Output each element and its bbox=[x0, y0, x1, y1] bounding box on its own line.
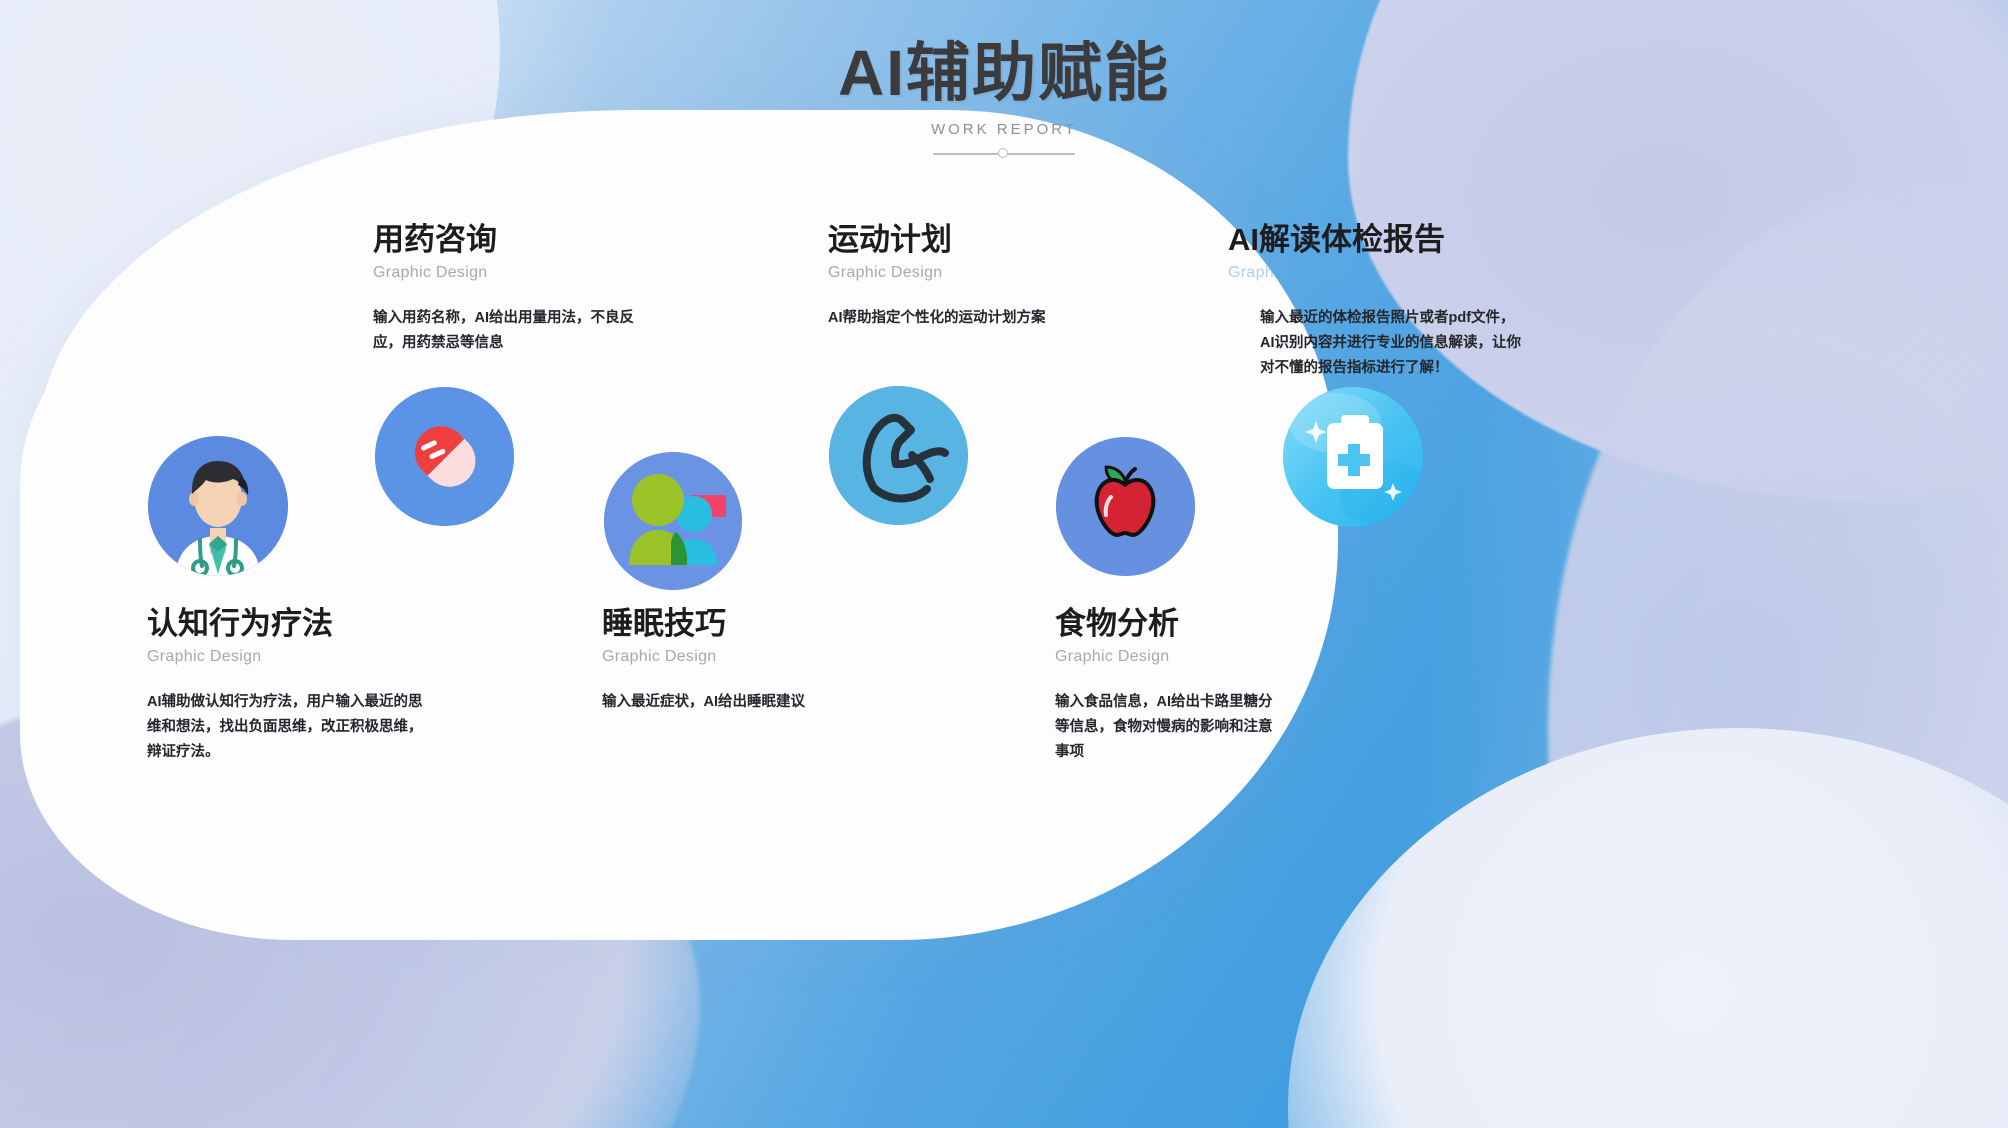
divider-dot-icon bbox=[998, 148, 1008, 158]
feature-ai-medical-report[interactable]: AI解读体检报告 Graphic Design 输入最近的体检报告照片或者pdf… bbox=[1228, 222, 1528, 380]
apple-icon[interactable] bbox=[1056, 437, 1195, 576]
feature-subtitle: Graphic Design bbox=[373, 264, 653, 282]
feature-description: 输入最近症状，AI给出睡眠建议 bbox=[602, 690, 852, 715]
page-title: AI辅助赋能 bbox=[0, 40, 2008, 107]
feature-sleep-techniques[interactable]: 睡眠技巧 Graphic Design 输入最近症状，AI给出睡眠建议 bbox=[602, 606, 852, 715]
feature-description: AI辅助做认知行为疗法，用户输入最近的思维和想法，找出负面思维，改正积极思维，辩… bbox=[147, 690, 425, 765]
feature-description: 输入最近的体检报告照片或者pdf文件，AI识别内容并进行专业的信息解读，让你对不… bbox=[1260, 306, 1528, 381]
feature-title: 食物分析 bbox=[1055, 606, 1285, 642]
feature-subtitle: Graphic Design bbox=[602, 648, 852, 666]
feature-medication-consultation[interactable]: 用药咨询 Graphic Design 输入用药名称，AI给出用量用法，不良反应… bbox=[373, 222, 653, 356]
flexed-bicep-icon[interactable] bbox=[829, 386, 968, 525]
header-divider bbox=[933, 147, 1075, 161]
feature-title: 用药咨询 bbox=[373, 222, 653, 258]
feature-title: AI解读体检报告 bbox=[1228, 222, 1528, 258]
feature-description: 输入用药名称，AI给出用量用法，不良反应，用药禁忌等信息 bbox=[373, 306, 653, 356]
feature-exercise-plan[interactable]: 运动计划 Graphic Design AI帮助指定个性化的运动计划方案 bbox=[828, 222, 1094, 331]
feature-cognitive-behavioral-therapy[interactable]: 认知行为疗法 Graphic Design AI辅助做认知行为疗法，用户输入最近… bbox=[147, 606, 425, 764]
feature-subtitle: Graphic Design bbox=[828, 264, 1094, 282]
medical-clipboard-icon[interactable] bbox=[1283, 387, 1423, 527]
people-speech-icon[interactable] bbox=[604, 452, 742, 590]
feature-title: 运动计划 bbox=[828, 222, 1094, 258]
feature-description: 输入食品信息，AI给出卡路里糖分等信息，食物对慢病的影响和注意事项 bbox=[1055, 690, 1285, 765]
feature-title: 认知行为疗法 bbox=[147, 606, 425, 642]
slide-canvas: AI辅助赋能 WORK REPORT bbox=[0, 0, 2008, 1128]
pill-capsule-icon[interactable] bbox=[375, 387, 514, 526]
slide-header: AI辅助赋能 WORK REPORT bbox=[0, 40, 2008, 161]
feature-title: 睡眠技巧 bbox=[602, 606, 852, 642]
feature-food-analysis[interactable]: 食物分析 Graphic Design 输入食品信息，AI给出卡路里糖分等信息，… bbox=[1055, 606, 1285, 764]
feature-subtitle: Graphic Design bbox=[1055, 648, 1285, 666]
doctor-icon[interactable] bbox=[148, 436, 288, 576]
feature-subtitle: Graphic Design bbox=[147, 648, 425, 666]
feature-subtitle: Graphic Design bbox=[1228, 264, 1528, 282]
feature-description: AI帮助指定个性化的运动计划方案 bbox=[828, 306, 1094, 331]
page-subtitle: WORK REPORT bbox=[0, 121, 2008, 138]
